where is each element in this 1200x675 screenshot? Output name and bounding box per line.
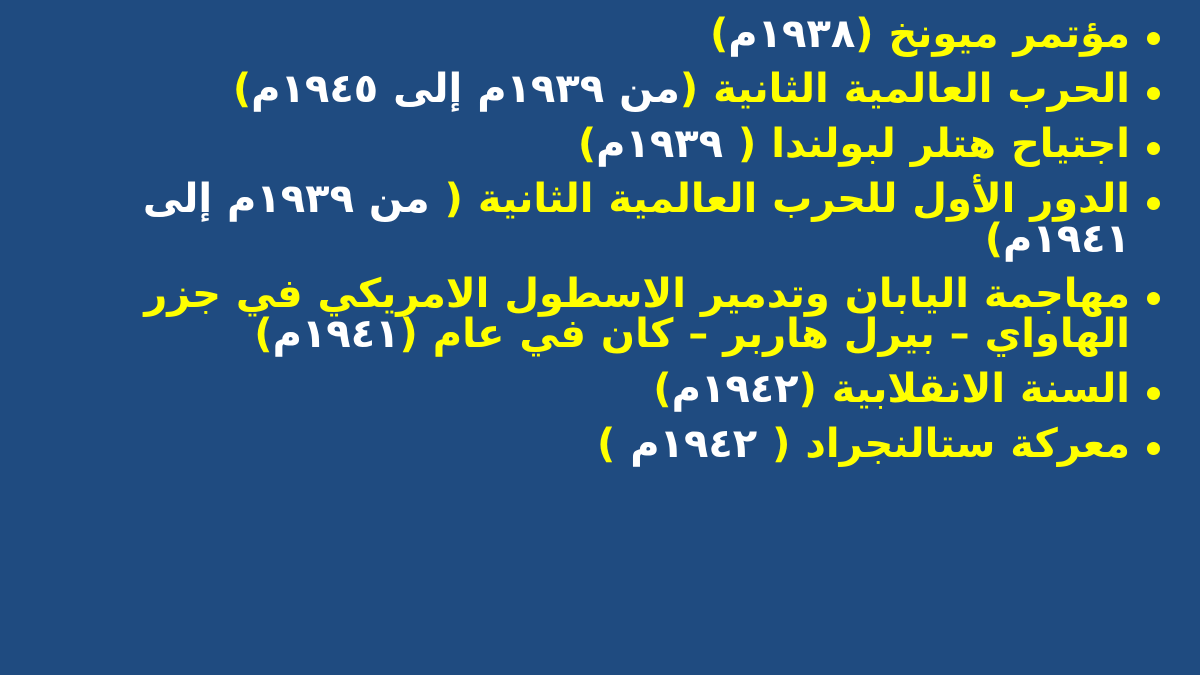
bullet-segment-paren: ) bbox=[985, 216, 1003, 262]
bullet-item-pearl-harbor-attack: مهاجمة اليابان وتدمير الاسطول الامريكي ف… bbox=[10, 274, 1166, 354]
bullet-segment-paren: ( bbox=[400, 311, 418, 357]
bullet-segment-paren: ) bbox=[597, 421, 630, 467]
bullet-point-icon bbox=[1147, 197, 1160, 210]
bullet-item-first-phase-of-wwii: الدور الأول للحرب العالمية الثانية ( من … bbox=[10, 179, 1166, 259]
bullet-text: الحرب العالمية الثانية (من ١٩٣٩م إلى ١٩٤… bbox=[14, 69, 1130, 109]
slide-canvas: مؤتمر ميونخ (١٩٣٨م)الحرب العالمية الثاني… bbox=[0, 0, 1200, 675]
bullet-segment-date: ١٩٤٢م bbox=[630, 421, 757, 467]
bullet-point-icon bbox=[1147, 387, 1160, 400]
bullet-segment-paren: ) bbox=[233, 66, 251, 112]
bullet-item-munich-conference: مؤتمر ميونخ (١٩٣٨م) bbox=[10, 14, 1166, 54]
bullet-segment-paren: ( bbox=[799, 366, 817, 412]
bullet-point-icon bbox=[1147, 442, 1160, 455]
bullet-segment-paren: ) bbox=[578, 121, 596, 167]
bullet-segment-paren: ( bbox=[430, 176, 463, 222]
bullet-segment-paren: ( bbox=[855, 11, 873, 57]
bullet-item-world-war-two: الحرب العالمية الثانية (من ١٩٣٩م إلى ١٩٤… bbox=[10, 69, 1166, 109]
bullet-point-icon bbox=[1147, 142, 1160, 155]
bullet-item-hitler-invades-poland: اجتياح هتلر لبولندا ( ١٩٣٩م) bbox=[10, 124, 1166, 164]
bullet-segment-txt: الحرب العالمية الثانية bbox=[698, 66, 1130, 112]
bullet-segment-date: ١٩٣٩م bbox=[596, 121, 723, 167]
bullet-segment-paren: ( bbox=[680, 66, 698, 112]
bullet-segment-date: ١٩٣٨م bbox=[728, 11, 855, 57]
bullet-text: الدور الأول للحرب العالمية الثانية ( من … bbox=[14, 179, 1130, 259]
bullet-point-icon bbox=[1147, 87, 1160, 100]
bullet-segment-paren: ) bbox=[254, 311, 272, 357]
bullet-segment-paren: ) bbox=[653, 366, 671, 412]
bullet-point-icon bbox=[1147, 32, 1160, 45]
bullet-text: مهاجمة اليابان وتدمير الاسطول الامريكي ف… bbox=[14, 274, 1130, 354]
bullet-point-icon bbox=[1147, 292, 1160, 305]
bullet-text: السنة الانقلابية (١٩٤٢م) bbox=[14, 369, 1130, 409]
bullet-segment-txt: اجتياح هتلر لبولندا bbox=[756, 121, 1130, 167]
bullet-text: اجتياح هتلر لبولندا ( ١٩٣٩م) bbox=[14, 124, 1130, 164]
bullet-text: معركة ستالنجراد ( ١٩٤٢م ) bbox=[14, 424, 1130, 464]
bullet-list: مؤتمر ميونخ (١٩٣٨م)الحرب العالمية الثاني… bbox=[10, 14, 1166, 464]
bullet-item-battle-of-stalingrad: معركة ستالنجراد ( ١٩٤٢م ) bbox=[10, 424, 1166, 464]
bullet-segment-txt: مؤتمر ميونخ bbox=[874, 11, 1130, 57]
bullet-item-year-of-turning-point: السنة الانقلابية (١٩٤٢م) bbox=[10, 369, 1166, 409]
bullet-text: مؤتمر ميونخ (١٩٣٨م) bbox=[14, 14, 1130, 54]
bullet-segment-paren: ( bbox=[723, 121, 756, 167]
bullet-segment-date: ١٩٤٢م bbox=[672, 366, 799, 412]
bullet-segment-paren: ( bbox=[757, 421, 790, 467]
bullet-segment-date: ١٩٤١م bbox=[273, 311, 400, 357]
bullet-segment-date: من ١٩٣٩م إلى ١٩٤٥م bbox=[251, 66, 680, 112]
bullet-segment-txt: السنة الانقلابية bbox=[817, 366, 1130, 412]
bullet-segment-txt: معركة ستالنجراد bbox=[790, 421, 1130, 467]
bullet-segment-paren: ) bbox=[710, 11, 728, 57]
